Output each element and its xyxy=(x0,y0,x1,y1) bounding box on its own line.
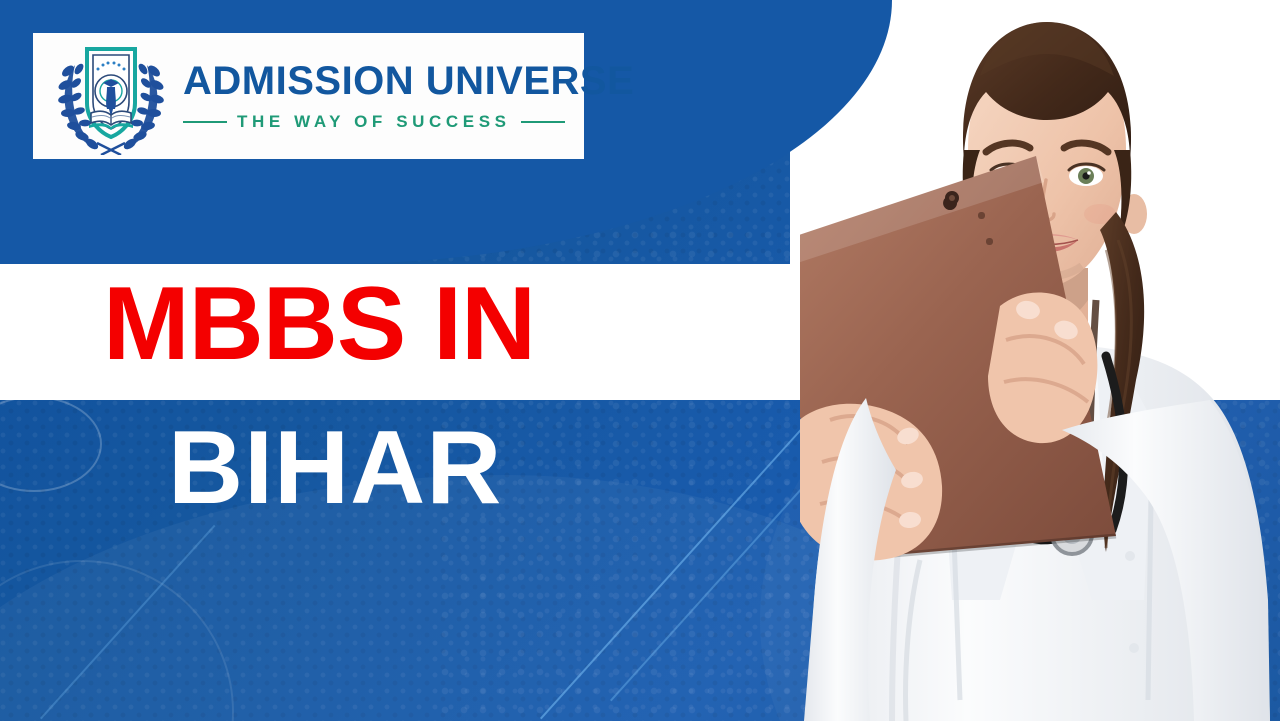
logo-title: ADMISSION UNIVERSE xyxy=(183,61,634,101)
banner-root: ADMISSION UNIVERSE THE WAY OF SUCCESS MB… xyxy=(0,0,1280,721)
tagline-rule-left xyxy=(183,121,227,123)
right-hand xyxy=(988,293,1097,444)
logo-text-block: ADMISSION UNIVERSE THE WAY OF SUCCESS xyxy=(183,61,634,132)
logo-tagline-row: THE WAY OF SUCCESS xyxy=(183,112,634,132)
doctor-photo xyxy=(800,0,1280,721)
logo-tagline: THE WAY OF SUCCESS xyxy=(237,112,511,132)
headline-line-2: BIHAR xyxy=(168,416,502,520)
tagline-rule-right xyxy=(521,121,565,123)
shield-graduation-laurel-emblem xyxy=(51,37,171,155)
logo-plate[interactable]: ADMISSION UNIVERSE THE WAY OF SUCCESS xyxy=(33,33,584,159)
headline-line-1: MBBS IN xyxy=(103,272,535,376)
